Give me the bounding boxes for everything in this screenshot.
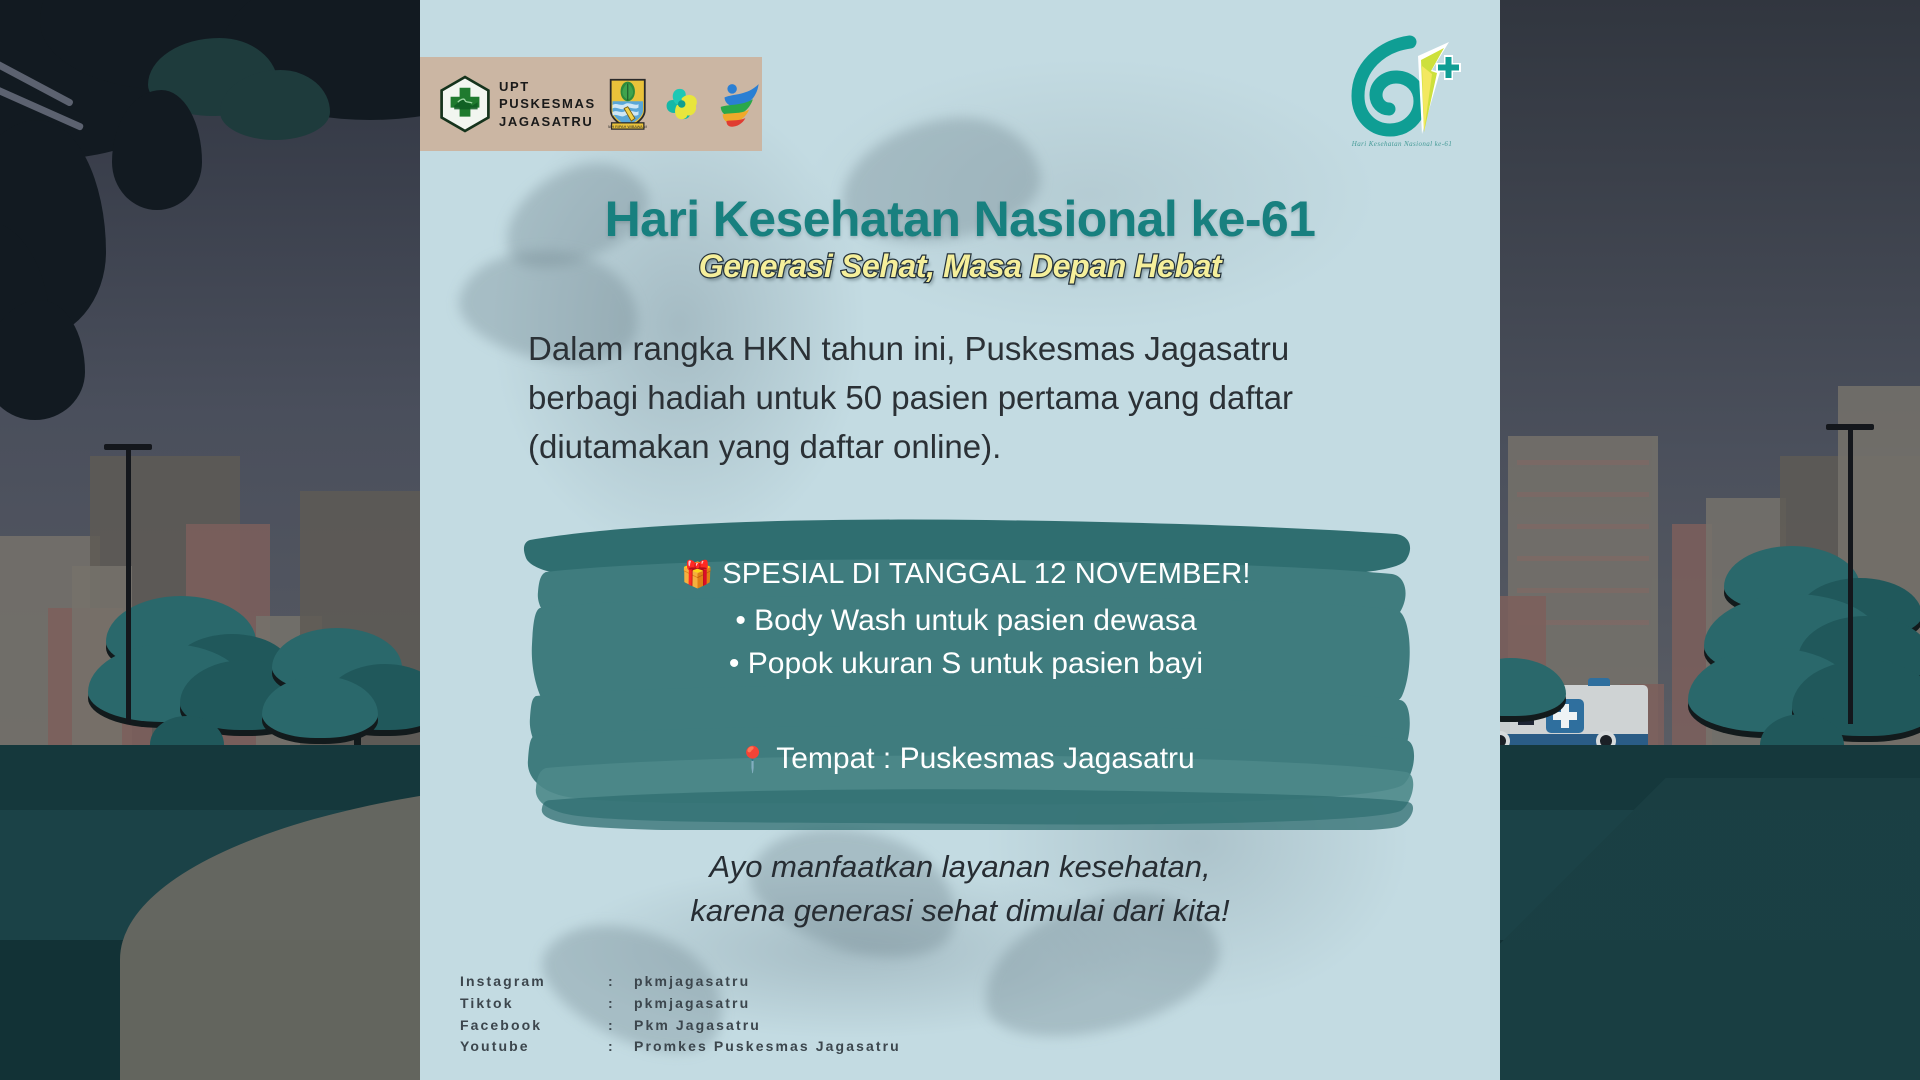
footer-row-tiktok: Tiktok : pkmjagasatru — [460, 993, 901, 1015]
body-paragraph: Dalam rangka HKN tahun ini, Puskesmas Ja… — [528, 325, 1408, 471]
list-item: • Popok ukuran S untuk pasien bayi — [516, 643, 1416, 686]
footer-handle: pkmjagasatru — [634, 971, 750, 993]
closing-message: Ayo manfaatkan layanan kesehatan, karena… — [420, 845, 1500, 933]
footer-platform: Instagram — [460, 971, 608, 993]
page-subtitle: Generasi Sehat, Masa Depan Hebat — [420, 248, 1500, 285]
bandung-city-crest-icon: GEMAH RIPAH WIBAWA MUKTI — [608, 77, 647, 131]
bullet-dot: • — [735, 604, 746, 637]
footer-separator: : — [608, 971, 634, 993]
bullet-text: Body Wash untuk pasien dewasa — [754, 604, 1197, 637]
street-lamp — [126, 444, 131, 724]
map-pin-icon: 📍 — [737, 746, 768, 774]
footer-platform: Tiktok — [460, 993, 608, 1015]
highlight-brush-block: 🎁 SPESIAL DI TANGGAL 12 NOVEMBER! • Body… — [516, 500, 1416, 830]
footer-row-instagram: Instagram : pkmjagasatru — [460, 971, 901, 993]
tree — [1688, 526, 1920, 756]
logo-line-3: JAGASATRU — [499, 113, 596, 130]
gift-icon: 🎁 — [681, 559, 714, 589]
footer-handle: pkmjagasatru — [634, 993, 750, 1015]
footer-handle: Pkm Jagasatru — [634, 1015, 761, 1037]
footer-platform: Facebook — [460, 1015, 608, 1037]
highlight-headline: 🎁 SPESIAL DI TANGGAL 12 NOVEMBER! — [516, 558, 1416, 591]
footer-platform: Youtube — [460, 1036, 608, 1058]
svg-text:GEMAH RIPAH WIBAWA MUKTI: GEMAH RIPAH WIBAWA MUKTI — [608, 125, 647, 129]
footer-handle: Promkes Puskesmas Jagasatru — [634, 1036, 901, 1058]
green-cross-hexagon-icon — [438, 75, 492, 133]
puskesmas-logo: UPT PUSKESMAS JAGASATRU — [438, 75, 596, 133]
page-title: Hari Kesehatan Nasional ke-61 — [420, 190, 1500, 248]
puskesmas-logo-text: UPT PUSKESMAS JAGASATRU — [499, 78, 596, 129]
highlight-headline-text: SPESIAL DI TANGGAL 12 NOVEMBER! — [722, 558, 1250, 590]
closing-line-2: karena generasi sehat dimulai dari kita! — [420, 889, 1500, 933]
footer-row-facebook: Facebook : Pkm Jagasatru — [460, 1015, 901, 1037]
bullet-text: Popok ukuran S untuk pasien bayi — [748, 647, 1203, 680]
logo-bar: UPT PUSKESMAS JAGASATRU GEMAH RIPAH WIBA… — [420, 57, 762, 151]
street-lamp — [1848, 424, 1853, 724]
footer-separator: : — [608, 993, 634, 1015]
logo-line-2: PUSKESMAS — [499, 95, 596, 112]
footer-separator: : — [608, 1015, 634, 1037]
list-item: • Body Wash untuk pasien dewasa — [516, 600, 1416, 643]
germas-flower-icon — [659, 81, 704, 127]
logo-line-1: UPT — [499, 78, 596, 95]
hkn-61-anniversary-logo: Hari Kesehatan Nasional ke-61 — [1344, 22, 1462, 150]
poster-canvas: UPT PUSKESMAS JAGASATRU GEMAH RIPAH WIBA… — [420, 0, 1500, 1080]
footer-row-youtube: Youtube : Promkes Puskesmas Jagasatru — [460, 1036, 901, 1058]
tree — [1496, 646, 1586, 756]
highlight-bullets: • Body Wash untuk pasien dewasa • Popok … — [516, 600, 1416, 685]
bullet-dot: • — [729, 647, 740, 680]
location-text: Tempat : Puskesmas Jagasatru — [776, 742, 1195, 775]
hkn-logo-caption: Hari Kesehatan Nasional ke-61 — [1350, 140, 1454, 148]
social-media-footer: Instagram : pkmjagasatru Tiktok : pkmjag… — [460, 971, 901, 1058]
highlight-location: 📍 Tempat : Puskesmas Jagasatru — [516, 742, 1416, 776]
healthy-figure-icon — [717, 80, 762, 128]
footer-separator: : — [608, 1036, 634, 1058]
closing-line-1: Ayo manfaatkan layanan kesehatan, — [420, 845, 1500, 889]
